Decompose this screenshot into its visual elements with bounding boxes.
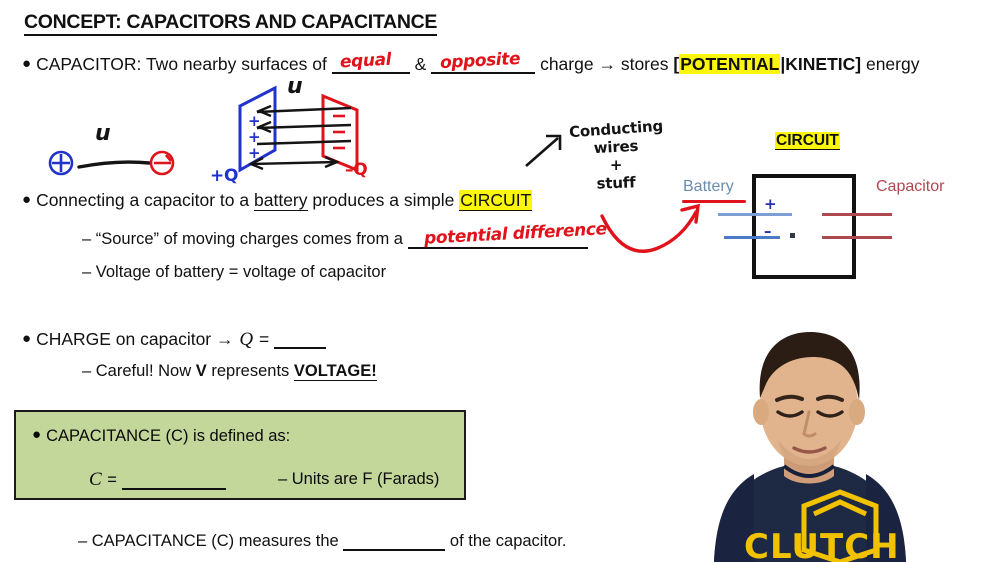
- charge-sub1-v: V: [196, 362, 207, 380]
- battery-plate-short: [724, 236, 780, 239]
- capacitor-amp: &: [415, 54, 427, 74]
- battery-pointer-arrow-icon: [600, 196, 710, 258]
- capacitor-lead: CAPACITOR:: [36, 54, 141, 74]
- bullet-marker: ●: [22, 330, 31, 347]
- bullet-charge-sub-1: – Careful! Now V represents VOLTAGE!: [82, 362, 377, 381]
- battery-tick-mark: [790, 233, 795, 238]
- capacitance-definition-box: ●CAPACITANCE (C) is defined as: C = – Un…: [14, 410, 466, 500]
- capacitor-plate-bottom: [822, 236, 892, 239]
- circuit-underlined-battery: battery: [254, 190, 308, 211]
- choice-kinetic: KINETIC: [785, 54, 855, 74]
- footer-text-pre: – CAPACITANCE (C) measures the: [78, 532, 339, 550]
- presenter-video: CLUTCH: [618, 300, 1000, 562]
- bracket-close: ]: [855, 54, 861, 74]
- capacitor-text-3: stores: [621, 54, 669, 74]
- clutch-wordmark: CLUTCH: [744, 527, 900, 562]
- diagram-charge-pair: u: [45, 125, 185, 190]
- annotation-line-3: +: [560, 156, 672, 174]
- footer-text-post: of the capacitor.: [450, 532, 567, 550]
- capacitor-plate-top: [822, 213, 892, 216]
- handwriting-equal: equal: [340, 50, 392, 73]
- charge-equals: =: [259, 329, 269, 349]
- battery-label-underline: [682, 200, 746, 203]
- plates-left-label: +Q: [210, 166, 238, 186]
- circuit-highlight-word: CIRCUIT: [459, 190, 532, 211]
- bullet-charge: ●CHARGE on capacitor → Q =: [22, 327, 326, 351]
- plates-gap-label: u: [287, 74, 302, 99]
- circuit-diagram-title: CIRCUIT: [775, 132, 840, 150]
- circuit-text-1: Connecting a capacitor to a: [36, 190, 249, 210]
- annotation-arrow-icon: [524, 130, 568, 170]
- capacitance-symbol-c: C: [88, 469, 103, 490]
- charge-symbol-q: Q: [238, 329, 254, 350]
- annotation-line-4: stuff: [560, 172, 673, 194]
- charge-sub1-voltage: VOLTAGE!: [294, 362, 377, 381]
- bullet-circuit: ●Connecting a capacitor to a battery pro…: [22, 190, 532, 210]
- svg-text:+: +: [248, 144, 261, 162]
- plates-right-label: –Q: [345, 160, 368, 180]
- charge-pair-svg: [45, 125, 185, 185]
- bullet-marker: ●: [32, 426, 41, 443]
- diagram-parallel-plates: + + + u +Q –Q: [205, 78, 380, 195]
- charge-sub1-pre: – Careful! Now: [82, 362, 191, 380]
- blank-line-charge: [274, 327, 326, 349]
- footer-line: – CAPACITANCE (C) measures the of the ca…: [78, 530, 566, 551]
- circuit-text-2: produces a simple: [312, 190, 454, 210]
- bullet-marker: ●: [22, 191, 31, 208]
- battery-minus-sign: –: [764, 222, 772, 240]
- capacitor-text-4: energy: [866, 54, 920, 74]
- capacitor-text-2: charge: [540, 54, 594, 74]
- charge-sub1-mid: represents: [211, 362, 289, 380]
- annotation-conducting-wires: Conducting wires + stuff: [560, 120, 672, 192]
- capacitance-equals: =: [107, 471, 117, 489]
- greenbox-units: – Units are F (Farads): [278, 470, 439, 489]
- charge-pair-distance-label: u: [95, 121, 110, 146]
- circuit-battery-label: Battery: [683, 178, 734, 196]
- blank-line-footer: [343, 530, 445, 551]
- circuit-sub1-text: – “Source” of moving charges comes from …: [82, 230, 403, 248]
- greenbox-formula: C =: [88, 469, 226, 491]
- handwriting-opposite: opposite: [440, 49, 521, 73]
- page-title: CONCEPT: CAPACITORS AND CAPACITANCE: [24, 12, 437, 36]
- capacitor-text-1: Two nearby surfaces of: [146, 54, 327, 74]
- battery-plate-long: [718, 213, 792, 216]
- arrow-icon: →: [216, 329, 234, 349]
- bullet-circuit-sub-2: – Voltage of battery = voltage of capaci…: [82, 263, 386, 282]
- circuit-capacitor-label: Capacitor: [876, 178, 944, 196]
- greenbox-heading: ●CAPACITANCE (C) is defined as:: [32, 426, 290, 446]
- blank-line-capacitance: [122, 469, 226, 490]
- charge-text-1: CHARGE on capacitor: [36, 329, 211, 349]
- choice-potential: POTENTIAL: [679, 54, 780, 74]
- arrow-icon: →: [598, 54, 616, 74]
- battery-plus-sign: +: [764, 195, 777, 213]
- slide-canvas: CONCEPT: CAPACITORS AND CAPACITANCE ●CAP…: [0, 0, 1000, 562]
- bullet-marker: ●: [22, 55, 31, 72]
